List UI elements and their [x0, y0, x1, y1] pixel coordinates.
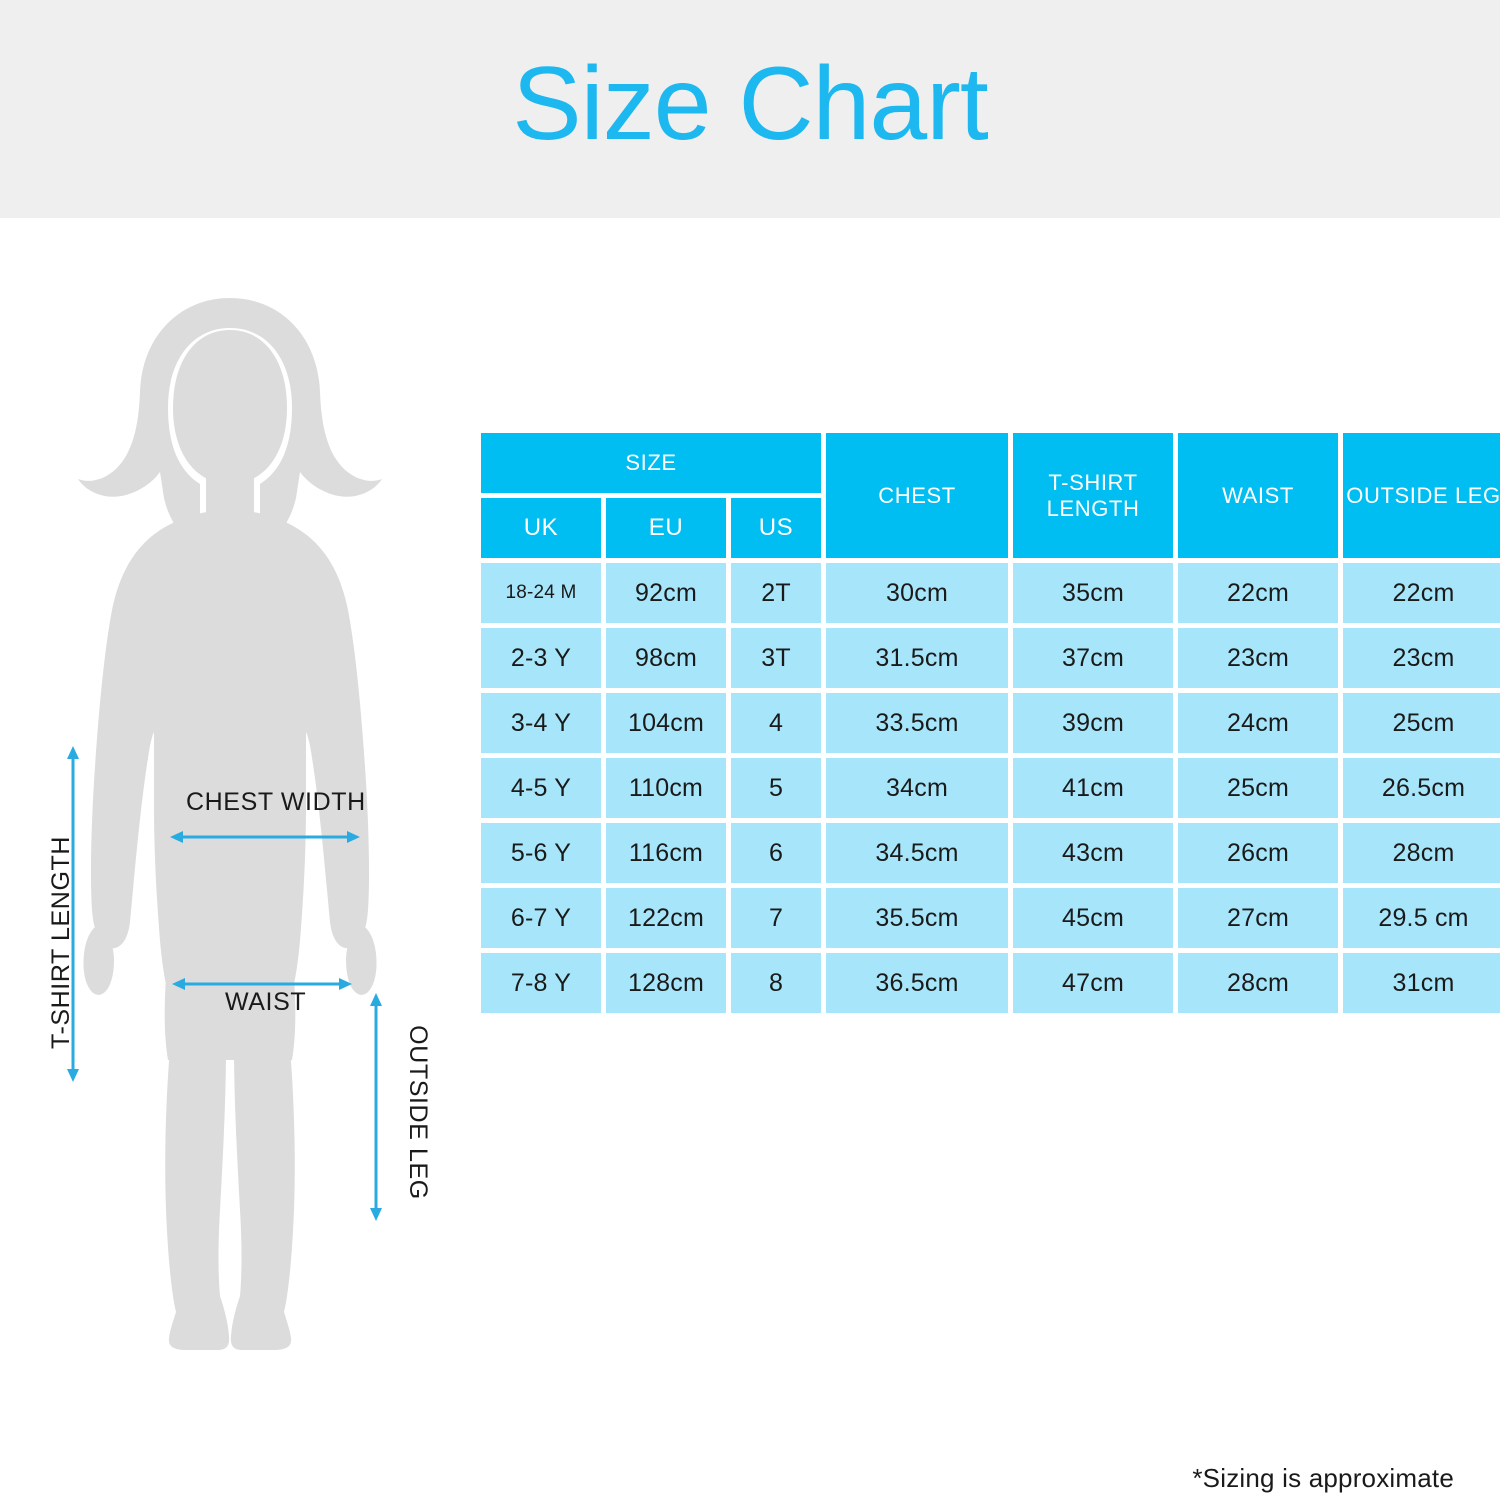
cell-waist: 26cm	[1178, 823, 1338, 883]
header-uk: UK	[481, 498, 601, 558]
cell-chest: 36.5cm	[826, 953, 1008, 1013]
cell-outside-leg: 26.5cm	[1343, 758, 1500, 818]
sizing-footnote: *Sizing is approximate	[1192, 1463, 1454, 1494]
table-row: 6-7 Y 122cm 7 35.5cm 45cm 27cm 29.5 cm	[481, 888, 1500, 948]
cell-chest: 30cm	[826, 563, 1008, 623]
cell-tshirt-length: 41cm	[1013, 758, 1173, 818]
cell-outside-leg: 22cm	[1343, 563, 1500, 623]
page-title: Size Chart	[0, 0, 1500, 218]
header-eu: EU	[606, 498, 726, 558]
cell-eu: 110cm	[606, 758, 726, 818]
header-outside-leg: OUTSIDE LEG	[1343, 433, 1500, 558]
size-chart-table-container: SIZE CHEST T-SHIRT LENGTH WAIST OUTSIDE …	[476, 428, 1479, 1018]
cell-eu: 98cm	[606, 628, 726, 688]
cell-outside-leg: 28cm	[1343, 823, 1500, 883]
cell-outside-leg: 23cm	[1343, 628, 1500, 688]
cell-waist: 28cm	[1178, 953, 1338, 1013]
cell-uk: 5-6 Y	[481, 823, 601, 883]
cell-outside-leg: 29.5 cm	[1343, 888, 1500, 948]
cell-us: 8	[731, 953, 821, 1013]
cell-tshirt-length: 47cm	[1013, 953, 1173, 1013]
table-row: 3-4 Y 104cm 4 33.5cm 39cm 24cm 25cm	[481, 693, 1500, 753]
table-row: 18-24 M 92cm 2T 30cm 35cm 22cm 22cm	[481, 563, 1500, 623]
cell-waist: 25cm	[1178, 758, 1338, 818]
cell-us: 4	[731, 693, 821, 753]
waist-arrow-icon	[172, 973, 352, 995]
cell-outside-leg: 31cm	[1343, 953, 1500, 1013]
cell-eu: 104cm	[606, 693, 726, 753]
cell-chest: 33.5cm	[826, 693, 1008, 753]
cell-uk: 2-3 Y	[481, 628, 601, 688]
cell-uk: 3-4 Y	[481, 693, 601, 753]
table-row: 5-6 Y 116cm 6 34.5cm 43cm 26cm 28cm	[481, 823, 1500, 883]
table-row: 4-5 Y 110cm 5 34cm 41cm 25cm 26.5cm	[481, 758, 1500, 818]
cell-tshirt-length: 45cm	[1013, 888, 1173, 948]
table-header: SIZE CHEST T-SHIRT LENGTH WAIST OUTSIDE …	[481, 433, 1500, 558]
measurement-figure-panel: CHEST WIDTH WAIST T-SHIRT LENGTH OUTSIDE…	[0, 218, 470, 1365]
header-chest: CHEST	[826, 433, 1008, 558]
cell-uk: 4-5 Y	[481, 758, 601, 818]
header-size-group: SIZE	[481, 433, 821, 493]
table-row: 7-8 Y 128cm 8 36.5cm 47cm 28cm 31cm	[481, 953, 1500, 1013]
outside-leg-arrow-icon	[365, 993, 387, 1221]
cell-us: 3T	[731, 628, 821, 688]
cell-eu: 92cm	[606, 563, 726, 623]
cell-tshirt-length: 39cm	[1013, 693, 1173, 753]
cell-us: 5	[731, 758, 821, 818]
cell-uk: 7-8 Y	[481, 953, 601, 1013]
cell-eu: 116cm	[606, 823, 726, 883]
cell-chest: 31.5cm	[826, 628, 1008, 688]
cell-tshirt-length: 43cm	[1013, 823, 1173, 883]
header-tshirt-length: T-SHIRT LENGTH	[1013, 433, 1173, 558]
girl-silhouette-icon	[60, 288, 400, 1358]
cell-us: 6	[731, 823, 821, 883]
table-header-row-group: SIZE CHEST T-SHIRT LENGTH WAIST OUTSIDE …	[481, 433, 1500, 493]
cell-chest: 35.5cm	[826, 888, 1008, 948]
cell-waist: 22cm	[1178, 563, 1338, 623]
outside-leg-label: OUTSIDE LEG	[403, 1025, 432, 1200]
cell-waist: 24cm	[1178, 693, 1338, 753]
chest-width-label: CHEST WIDTH	[186, 788, 366, 817]
cell-eu: 122cm	[606, 888, 726, 948]
chest-width-arrow-icon	[170, 826, 360, 848]
cell-tshirt-length: 37cm	[1013, 628, 1173, 688]
cell-us: 7	[731, 888, 821, 948]
cell-us: 2T	[731, 563, 821, 623]
cell-chest: 34cm	[826, 758, 1008, 818]
header-us: US	[731, 498, 821, 558]
cell-waist: 23cm	[1178, 628, 1338, 688]
cell-eu: 128cm	[606, 953, 726, 1013]
tshirt-length-arrow-icon	[62, 746, 84, 1082]
cell-uk: 18-24 M	[481, 563, 601, 623]
cell-outside-leg: 25cm	[1343, 693, 1500, 753]
cell-tshirt-length: 35cm	[1013, 563, 1173, 623]
header-waist: WAIST	[1178, 433, 1338, 558]
table-body: 18-24 M 92cm 2T 30cm 35cm 22cm 22cm 2-3 …	[481, 563, 1500, 1013]
cell-chest: 34.5cm	[826, 823, 1008, 883]
cell-uk: 6-7 Y	[481, 888, 601, 948]
size-chart-table: SIZE CHEST T-SHIRT LENGTH WAIST OUTSIDE …	[476, 428, 1500, 1018]
cell-waist: 27cm	[1178, 888, 1338, 948]
table-row: 2-3 Y 98cm 3T 31.5cm 37cm 23cm 23cm	[481, 628, 1500, 688]
header-banner: Size Chart	[0, 0, 1500, 218]
